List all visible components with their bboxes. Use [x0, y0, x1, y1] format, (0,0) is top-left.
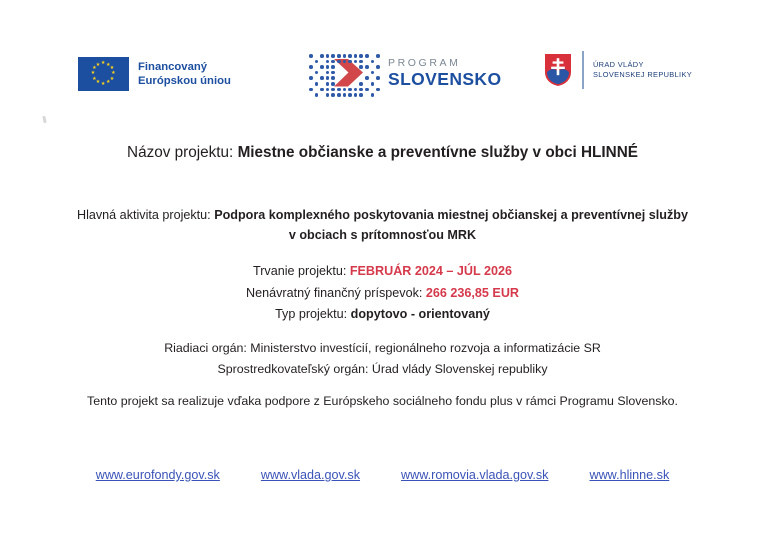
project-type-row: Typ projektu: dopytovo - orientovaný	[0, 304, 765, 326]
project-title-label: Názov projektu:	[127, 144, 238, 161]
eu-funding-logo: Financovaný Európskou úniou	[78, 57, 231, 91]
main-activity-line2: v obciach s prítomnosťou MRK	[0, 225, 765, 245]
eu-flag-icon	[78, 57, 129, 91]
government-office-line2: SLOVENSKEJ REPUBLIKY	[593, 70, 692, 80]
program-slovensko-dot	[365, 54, 369, 58]
eu-star-icon	[106, 80, 109, 83]
project-contribution-value: 266 236,85 EUR	[426, 286, 519, 300]
funding-note: Tento projekt sa realizuje vďaka podpore…	[0, 394, 765, 408]
eu-funding-text: Financovaný Európskou úniou	[138, 60, 231, 88]
logo-band: Financovaný Európskou úniou PROGRAM SLOV…	[0, 46, 765, 104]
project-type-value: dopytovo - orientovaný	[351, 307, 490, 321]
link-hlinne[interactable]: www.hlinne.sk	[589, 468, 669, 482]
logo-divider	[582, 51, 584, 89]
program-slovensko-dot	[376, 54, 380, 58]
program-slovensko-dot	[326, 71, 330, 75]
program-slovensko-dot	[359, 60, 363, 64]
main-activity-value-part1: Podpora komplexného poskytovania miestne…	[214, 208, 688, 222]
eu-star-icon	[106, 63, 109, 66]
program-slovensko-dot	[331, 54, 335, 58]
program-slovensko-dot	[354, 88, 358, 92]
program-slovensko-dot	[326, 54, 330, 58]
project-facts: Trvanie projektu: FEBRUÁR 2024 – JÚL 202…	[0, 261, 765, 326]
program-slovensko-dot	[326, 76, 330, 80]
project-type-label: Typ projektu:	[275, 307, 351, 321]
program-slovensko-dot	[331, 76, 335, 80]
program-slovensko-dot	[331, 93, 335, 97]
program-slovensko-dot	[371, 60, 375, 64]
eu-star-icon	[111, 71, 114, 74]
program-slovensko-dot	[315, 93, 319, 97]
program-slovensko-dot	[315, 60, 319, 64]
eu-star-icon	[96, 63, 99, 66]
eu-star-icon	[101, 82, 104, 85]
project-title: Názov projektu: Miestne občianske a prev…	[0, 144, 765, 162]
program-slovensko-dot	[365, 76, 369, 80]
program-slovensko-dot	[331, 65, 335, 69]
program-slovensko-dot	[309, 65, 313, 69]
main-activity-label: Hlavná aktivita projektu:	[77, 208, 214, 222]
program-slovensko-dot	[337, 93, 341, 97]
program-slovensko-dot	[337, 60, 341, 64]
link-vlada[interactable]: www.vlada.gov.sk	[261, 468, 360, 482]
program-slovensko-wordmark: PROGRAM SLOVENSKO	[388, 58, 501, 89]
eu-star-icon	[91, 71, 94, 74]
main-activity: Hlavná aktivita projektu: Podpora komple…	[0, 205, 765, 245]
program-slovensko-dot	[348, 60, 352, 64]
project-duration-row: Trvanie projektu: FEBRUÁR 2024 – JÚL 202…	[0, 261, 765, 283]
eu-star-icon	[101, 61, 104, 64]
program-slovensko-dot	[348, 93, 352, 97]
program-slovensko-dot	[365, 65, 369, 69]
project-contribution-label: Nenávratný finančný príspevok:	[246, 286, 426, 300]
program-slovensko-dot	[337, 54, 341, 58]
program-slovensko-dot	[309, 76, 313, 80]
program-slovensko-dot	[376, 65, 380, 69]
program-slovensko-dot	[365, 88, 369, 92]
program-slovensko-line2: SLOVENSKO	[388, 71, 501, 89]
program-slovensko-dot	[359, 93, 363, 97]
responsible-organisations: Riadiaci orgán: Ministerstvo investícií,…	[0, 338, 765, 379]
program-slovensko-dot	[348, 88, 352, 92]
project-title-value: Miestne občianske a preventívne služby v…	[238, 144, 638, 161]
program-slovensko-dot	[359, 88, 363, 92]
project-duration-label: Trvanie projektu:	[253, 264, 350, 278]
program-slovensko-dot	[376, 88, 380, 92]
program-slovensko-dot	[315, 82, 319, 86]
program-slovensko-dot	[331, 82, 335, 86]
government-office-text: ÚRAD VLÁDY SLOVENSKEJ REPUBLIKY	[593, 60, 692, 79]
program-slovensko-dot	[359, 54, 363, 58]
eu-star-icon	[92, 66, 95, 69]
program-slovensko-dot	[320, 88, 324, 92]
program-slovensko-line1: PROGRAM	[388, 58, 501, 69]
program-slovensko-dot	[320, 76, 324, 80]
footer-links: www.eurofondy.gov.sk www.vlada.gov.sk ww…	[0, 468, 765, 482]
program-slovensko-dot	[348, 54, 352, 58]
program-slovensko-dot	[376, 76, 380, 80]
program-slovensko-dot	[354, 93, 358, 97]
link-romovia-vlada[interactable]: www.romovia.vlada.gov.sk	[401, 468, 548, 482]
program-slovensko-dot	[359, 82, 363, 86]
eu-star-icon	[110, 66, 113, 69]
government-office-line1: ÚRAD VLÁDY	[593, 60, 692, 70]
government-office-logo: ÚRAD VLÁDY SLOVENSKEJ REPUBLIKY	[544, 51, 692, 89]
project-duration-value: FEBRUÁR 2024 – JÚL 2026	[350, 264, 512, 278]
program-slovensko-dot	[371, 93, 375, 97]
managing-authority: Riadiaci orgán: Ministerstvo investícií,…	[0, 338, 765, 359]
program-slovensko-dot	[315, 71, 319, 75]
program-slovensko-dot	[343, 54, 347, 58]
program-slovensko-dot	[343, 88, 347, 92]
program-slovensko-dot	[326, 93, 330, 97]
program-slovensko-mark-icon	[308, 50, 380, 96]
program-slovensko-logo: PROGRAM SLOVENSKO	[308, 50, 501, 96]
eu-funding-line1: Financovaný	[138, 60, 231, 74]
program-slovensko-dot	[331, 60, 335, 64]
project-contribution-row: Nenávratný finančný príspevok: 266 236,8…	[0, 283, 765, 305]
program-slovensko-dot	[359, 65, 363, 69]
program-slovensko-dot	[326, 82, 330, 86]
eu-star-icon	[92, 77, 95, 80]
program-slovensko-dot	[343, 93, 347, 97]
eu-funding-line2: Európskou úniou	[138, 74, 231, 88]
program-slovensko-dot	[326, 88, 330, 92]
program-slovensko-dot	[337, 88, 341, 92]
program-slovensko-dot	[371, 71, 375, 75]
program-slovensko-dot	[309, 88, 313, 92]
program-slovensko-dot	[320, 65, 324, 69]
intermediate-body: Sprostredkovateľský orgán: Úrad vlády Sl…	[0, 359, 765, 380]
program-slovensko-dot	[331, 88, 335, 92]
program-slovensko-dot	[326, 65, 330, 69]
program-slovensko-dot	[326, 60, 330, 64]
main-activity-line1: Hlavná aktivita projektu: Podpora komple…	[0, 205, 765, 225]
link-eurofondy[interactable]: www.eurofondy.gov.sk	[96, 468, 220, 482]
scan-artifact-speck	[42, 116, 46, 123]
program-slovensko-dot	[320, 54, 324, 58]
program-slovensko-dot	[371, 82, 375, 86]
slovak-coat-of-arms-icon	[544, 53, 572, 87]
program-slovensko-dot	[354, 54, 358, 58]
program-slovensko-dot	[309, 54, 313, 58]
main-activity-value-part2: v obciach s prítomnosťou MRK	[289, 228, 476, 242]
